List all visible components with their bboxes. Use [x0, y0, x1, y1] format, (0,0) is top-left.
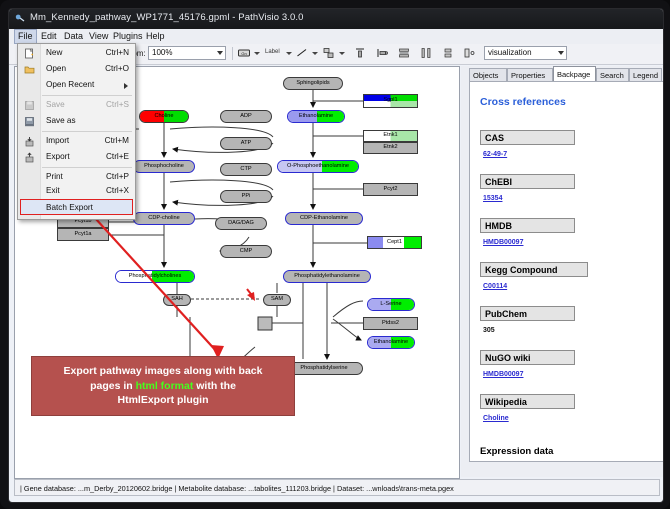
menu-item-open-recent[interactable]: Open Recent — [19, 78, 134, 93]
menu-label: Save as — [46, 116, 76, 125]
node-label: Sgpl1 — [383, 98, 397, 104]
pathvisio-app-icon — [15, 13, 26, 24]
node-atp[interactable]: ATP — [220, 137, 272, 150]
menu-item-print[interactable]: Print Ctrl+P — [19, 170, 134, 185]
node-phosphatidylserine[interactable]: Phosphatidylserine — [285, 362, 363, 375]
zoom-value: 100% — [152, 48, 172, 57]
node-cept1[interactable]: Cept1 — [367, 236, 422, 249]
node-label: CTP — [240, 167, 251, 173]
menu-accel: Ctrl+E — [106, 152, 129, 161]
annotation-callout: Export pathway images along with back pa… — [31, 356, 295, 416]
xref-value-pubchem: 305 — [483, 327, 495, 334]
node-label: L-Serine — [380, 302, 401, 308]
label-dropdown-icon[interactable] — [286, 52, 292, 55]
line-icon[interactable] — [295, 46, 309, 60]
window-titlebar: Mm_Kennedy_pathway_WP1771_45176.gpml - P… — [9, 9, 663, 30]
node-label: Ethanolamine — [299, 114, 333, 120]
datanode-dropdown-icon[interactable] — [254, 52, 260, 55]
statusbar: | Gene database: ...m_Derby_20120602.bri… — [14, 479, 660, 496]
panel-tabs: Objects Properties Backpage Search Legen… — [469, 66, 664, 81]
node-label: Etnk2 — [383, 145, 397, 151]
node-label: PPi — [242, 194, 251, 200]
tab-backpage[interactable]: Backpage — [553, 66, 596, 81]
distribute-vertical-icon[interactable] — [397, 46, 411, 60]
status-text: | Gene database: ...m_Derby_20120602.bri… — [20, 484, 454, 493]
node-adp[interactable]: ADP — [220, 110, 272, 123]
node-sgpl1[interactable]: Sgpl1 — [363, 94, 418, 108]
node-label: Ethanolamine — [374, 340, 408, 346]
menu-label: Batch Export — [46, 203, 93, 212]
callout-line1: Export pathway images along with back — [64, 365, 263, 377]
menu-item-export[interactable]: Export Ctrl+E — [19, 150, 134, 165]
node-pcyt2[interactable]: Pcyt2 — [363, 183, 418, 196]
xref-value-wikipedia[interactable]: Choline — [483, 415, 509, 422]
node-cdp-ethanolamine[interactable]: CDP-Ethanolamine — [285, 212, 363, 225]
group-icon[interactable] — [463, 46, 477, 60]
menu-data[interactable]: Data — [60, 30, 87, 43]
chevron-down-icon — [558, 51, 564, 55]
pathvisio-window: Mm_Kennedy_pathway_WP1771_45176.gpml - P… — [8, 8, 664, 503]
menu-label: Open — [46, 64, 66, 73]
node-label: Phosphatidylserine — [300, 366, 347, 372]
node-choline-top[interactable]: Choline — [139, 110, 189, 123]
tab-objects[interactable]: Objects — [469, 68, 507, 81]
menu-label: Export — [46, 152, 70, 161]
xref-value-kegg[interactable]: C00114 — [483, 283, 507, 290]
xref-value-chebi[interactable]: 15354 — [483, 195, 502, 202]
node-l-serine[interactable]: L-Serine — [367, 298, 415, 311]
new-document-icon — [24, 48, 35, 59]
node-phosphocholine[interactable]: Phosphocholine — [133, 160, 195, 173]
menu-item-batch-export[interactable]: Batch Export — [20, 199, 133, 215]
node-label: CDP-Ethanolamine — [300, 216, 348, 222]
xref-header-cas: CAS — [480, 130, 575, 145]
align-top-icon[interactable] — [353, 46, 367, 60]
menu-item-exit[interactable]: Exit Ctrl+X — [19, 184, 134, 199]
node-phosphatidylcholines[interactable]: Phosphatidylcholines — [115, 270, 195, 283]
menu-file[interactable]: File — [14, 29, 37, 44]
menu-label: New — [46, 48, 62, 57]
menu-separator — [42, 131, 132, 132]
stack-center-icon[interactable] — [441, 46, 455, 60]
xref-header-kegg: Kegg Compound — [480, 262, 588, 277]
menu-item-save[interactable]: Save Ctrl+S — [19, 98, 134, 113]
menu-item-import[interactable]: Import Ctrl+M — [19, 134, 134, 149]
visualization-combo[interactable]: visualization — [484, 46, 567, 60]
expression-data-heading: Expression data — [480, 446, 553, 457]
export-icon — [24, 152, 35, 163]
menu-label: Open Recent — [46, 80, 94, 89]
tab-legend[interactable]: Legend — [629, 68, 662, 81]
node-label: Phosphatidylcholines — [129, 274, 182, 280]
chevron-right-icon — [124, 83, 128, 89]
node-label: Sphingolipids — [296, 81, 329, 87]
menu-label: Save — [46, 100, 65, 109]
node-label: ATP — [241, 141, 251, 147]
node-phosphatidylethanolamine[interactable]: Phosphatidylethanolamine — [283, 270, 371, 283]
node-label: CMP — [240, 249, 252, 255]
node-label: O-Phosphoethanolamine — [287, 164, 349, 170]
node-ptdss2[interactable]: Ptdss2 — [363, 317, 418, 330]
menu-accel: Ctrl+P — [106, 172, 129, 181]
menu-label: Exit — [46, 186, 60, 195]
menu-accel: Ctrl+M — [105, 136, 129, 145]
node-cmp[interactable]: CMP — [220, 245, 272, 258]
node-label: DAG/DAG — [228, 221, 254, 227]
menu-label: Import — [46, 136, 69, 145]
node-label: Phosphatidylethanolamine — [294, 274, 360, 280]
menu-separator — [42, 95, 132, 96]
datanode-icon[interactable]: Gn — [237, 46, 251, 60]
menu-edit[interactable]: Edit — [37, 30, 61, 43]
menu-item-save-as[interactable]: Save as — [19, 114, 134, 129]
menu-accel: Ctrl+S — [106, 100, 129, 109]
callout-line2-a: pages in — [90, 380, 136, 392]
distribute-horizontal-icon[interactable] — [419, 46, 433, 60]
xref-header-nugo: NuGO wiki — [480, 350, 575, 365]
node-o-phosphoethanolamine[interactable]: O-Phosphoethanolamine — [277, 160, 359, 173]
node-label: SAH — [171, 297, 183, 303]
visualization-value: visualization — [488, 48, 532, 57]
annotation-text: Export pathway images along with back pa… — [56, 364, 271, 409]
menu-accel: Ctrl+O — [105, 64, 129, 73]
shape-dropdown-icon[interactable] — [339, 52, 345, 55]
toolbar-separator — [232, 47, 233, 60]
menu-accel: Ctrl+X — [106, 186, 129, 195]
line-dropdown-icon[interactable] — [312, 52, 318, 55]
menu-plugins[interactable]: Plugins — [109, 30, 147, 43]
cross-references-heading: Cross references — [480, 96, 566, 108]
side-panel: Objects Properties Backpage Search Legen… — [461, 66, 664, 477]
menu-separator — [42, 167, 132, 168]
tab-properties[interactable]: Properties — [507, 68, 553, 81]
callout-line2-b: with the — [193, 380, 236, 392]
node-ctp[interactable]: CTP — [220, 163, 272, 176]
node-cdp-choline[interactable]: CDP-choline — [133, 212, 195, 225]
node-etnk2[interactable]: Etnk2 — [363, 142, 418, 154]
open-folder-icon — [24, 64, 35, 75]
node-dag-dag[interactable]: DAG/DAG — [215, 217, 267, 230]
node-sam[interactable]: SAM — [263, 294, 291, 306]
menu-accel: Ctrl+N — [106, 48, 129, 57]
file-menu-dropdown: New Ctrl+N Open Ctrl+O Open Recent Save … — [17, 43, 136, 220]
node-label: Ptdss2 — [382, 321, 399, 327]
backpage-content: Cross references CAS 62-49-7 ChEBI 15354… — [469, 81, 664, 462]
xref-header-hmdb: HMDB — [480, 218, 575, 233]
callout-line2-green: html format — [136, 380, 194, 392]
node-label: Etnk1 — [383, 133, 397, 139]
label-tool-text[interactable]: Label — [265, 49, 280, 55]
save-as-icon — [24, 116, 35, 127]
window-title: Mm_Kennedy_pathway_WP1771_45176.gpml - P… — [30, 12, 304, 23]
node-label: Pcyt2 — [384, 187, 398, 193]
node-label: Pcyt1a — [74, 232, 91, 238]
node-label: ADP — [240, 114, 252, 120]
save-disk-icon — [24, 100, 35, 111]
xref-header-wikipedia: Wikipedia — [480, 394, 575, 409]
shape-icon[interactable] — [322, 46, 336, 60]
node-ethanolamine-2[interactable]: Ethanolamine — [367, 336, 415, 349]
menu-help[interactable]: Help — [142, 30, 169, 43]
xref-value-nugo[interactable]: HMDB00097 — [483, 371, 523, 378]
menu-label: Print — [46, 172, 63, 181]
menu-item-open[interactable]: Open Ctrl+O — [19, 62, 134, 77]
screenshot-frame: Mm_Kennedy_pathway_WP1771_45176.gpml - P… — [0, 0, 670, 509]
node-label: Choline — [155, 114, 174, 120]
node-label: CDP-choline — [148, 216, 179, 222]
import-icon — [24, 136, 35, 147]
node-label: SAM — [271, 297, 283, 303]
menu-item-new[interactable]: New Ctrl+N — [19, 46, 134, 61]
xref-value-hmdb[interactable]: HMDB00097 — [483, 239, 523, 246]
node-pcyt1a[interactable]: Pcyt1a — [57, 228, 109, 241]
callout-line3: HtmlExport plugin — [118, 394, 209, 406]
node-etnk1[interactable]: Etnk1 — [363, 130, 418, 142]
chevron-down-icon — [217, 51, 223, 55]
xref-header-pubchem: PubChem — [480, 306, 575, 321]
node-ppi[interactable]: PPi — [220, 190, 272, 203]
align-left-icon[interactable] — [375, 46, 389, 60]
node-label: Cept1 — [387, 240, 402, 246]
node-label: Phosphocholine — [144, 164, 184, 170]
node-sah[interactable]: SAH — [163, 294, 191, 306]
node-sphingolipids[interactable]: Sphingolipids — [283, 77, 343, 90]
xref-value-cas[interactable]: 62-49-7 — [483, 151, 507, 158]
xref-header-chebi: ChEBI — [480, 174, 575, 189]
svg-text:Gn: Gn — [241, 51, 246, 56]
tab-search[interactable]: Search — [596, 68, 629, 81]
zoom-combo[interactable]: 100% — [148, 46, 226, 60]
node-ethanolamine-1[interactable]: Ethanolamine — [287, 110, 345, 123]
